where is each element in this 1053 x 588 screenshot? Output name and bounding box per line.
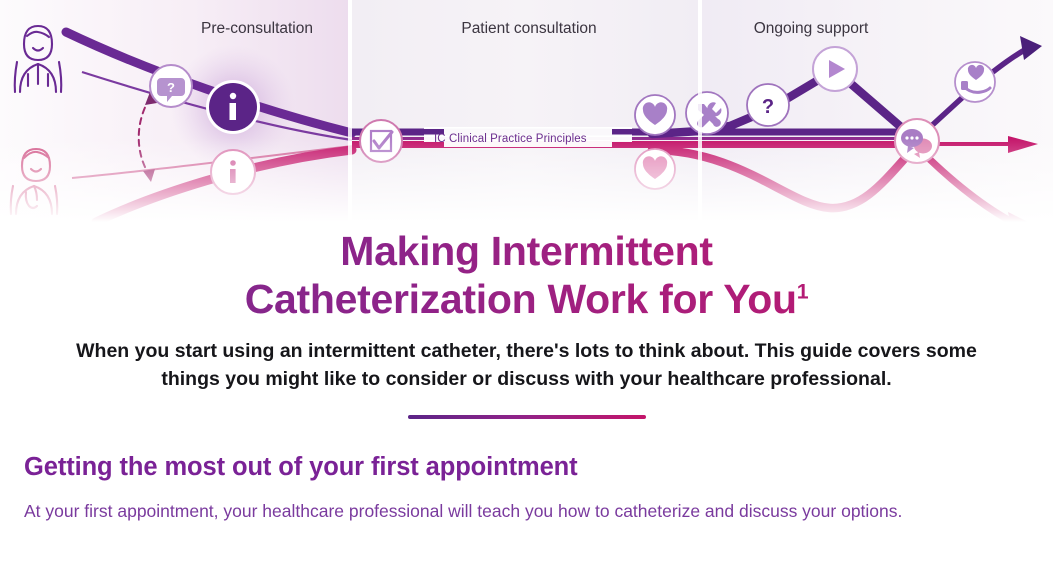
page-title: Making Intermittent Catheterization Work…: [24, 228, 1029, 324]
first-appointment-section: Getting the most out of your first appoi…: [24, 453, 1029, 524]
section-divider: [408, 415, 646, 419]
journey-diagram: ?: [0, 0, 1053, 222]
banner-fade: [0, 0, 1053, 222]
page-title-line-1: Making Intermittent: [340, 228, 712, 274]
section-heading: Getting the most out of your first appoi…: [24, 453, 1029, 482]
ic-clinical-practice-principles-label: IC Clinical Practice Principles: [434, 133, 587, 145]
page-subtitle: When you start using an intermittent cat…: [51, 338, 1003, 393]
page-content: Making Intermittent Catheterization Work…: [0, 228, 1053, 525]
page-title-reference-marker: 1: [797, 279, 809, 303]
page-title-line-2: Catheterization Work for You: [245, 276, 797, 322]
section-body: At your first appointment, your healthca…: [24, 498, 984, 524]
journey-banner: ?: [0, 0, 1053, 222]
